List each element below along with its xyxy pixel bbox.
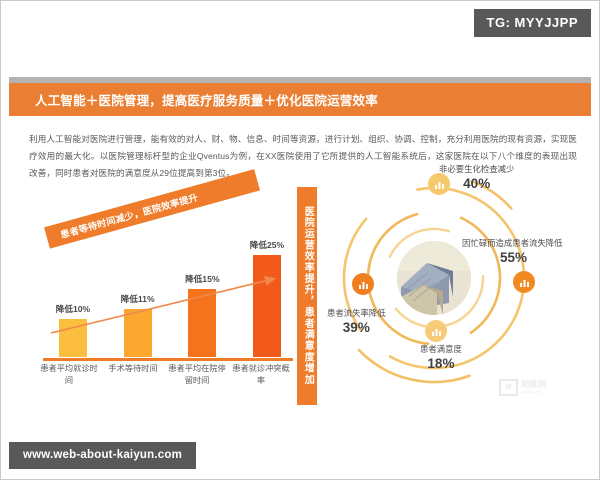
radial-node-1-label: 非必要生化检查减少 40% (439, 163, 514, 191)
radial-diagram: 非必要生化检查减少 40% 因忙碌而造成患者流失降低 55% 患者满意度 (331, 181, 599, 386)
bar-chart-icon (431, 326, 442, 337)
chart-axis-line (43, 358, 293, 361)
watermark-logo-icon: W (499, 379, 518, 396)
trend-arrow-icon (49, 273, 281, 275)
chart-category-labels: 患者平均就诊时间 手术等待时间 患者平均在院停留时间 患者就诊冲突概率 (37, 363, 293, 401)
bar-chart: 患者等待时间减少，医院效率提升 降低10% 降低11% 降低15% 降低25% (25, 193, 293, 405)
tg-badge: TG: MYYJJPP (474, 9, 591, 37)
node-value-text: 39% (327, 320, 386, 335)
node-value-text: 55% (500, 250, 563, 265)
node-label-text: 因忙碌而造成患者流失降低 (462, 237, 563, 249)
trend-ribbon-label: 患者等待时间减少，医院效率提升 (45, 189, 199, 244)
node-label-text: 非必要生化检查减少 (439, 163, 514, 175)
slide-frame: TG: MYYJJPP 人工智能＋医院管理，提高医疗服务质量＋优化医院运营效率 … (0, 0, 600, 480)
node-label-text: 患者流失率降低 (327, 307, 386, 319)
radial-node-2 (513, 271, 535, 293)
radial-node-3 (425, 320, 447, 342)
footer-url: www.web-about-kaiyun.com (9, 442, 196, 470)
bar-chart-icon (358, 279, 369, 290)
node-value-text: 40% (439, 176, 514, 191)
category-label: 患者平均在院停留时间 (165, 363, 229, 401)
category-label: 患者就诊冲突概率 (229, 363, 293, 401)
radial-node-2-label: 因忙碌而造成患者流失降低 55% (462, 237, 563, 265)
header-banner: 人工智能＋医院管理，提高医疗服务质量＋优化医院运营效率 (9, 83, 591, 116)
category-label: 手术等待时间 (101, 363, 165, 401)
watermark-sub: vcbeat.net (521, 390, 547, 395)
bar-value-label: 降低25% (250, 239, 284, 251)
radial-node-4 (352, 273, 374, 295)
watermark: W 动脉网 vcbeat.net (499, 379, 547, 396)
vertical-highlight-strip: 医院运营效率提升，患者满意度增加 (297, 187, 317, 405)
radial-node-3-label: 患者满意度 18% (420, 343, 462, 371)
vertical-strip-label: 医院运营效率提升，患者满意度增加 (302, 206, 313, 385)
node-value-text: 18% (420, 356, 462, 371)
node-label-text: 患者满意度 (420, 343, 462, 355)
watermark-name: 动脉网 (521, 380, 547, 389)
banner-title: 人工智能＋医院管理，提高医疗服务质量＋优化医院运营效率 (9, 90, 378, 109)
center-photo (397, 241, 471, 315)
bar-chart-icon (519, 277, 530, 288)
radial-node-4-label: 患者流失率降低 39% (327, 307, 386, 335)
category-label: 患者平均就诊时间 (37, 363, 101, 401)
